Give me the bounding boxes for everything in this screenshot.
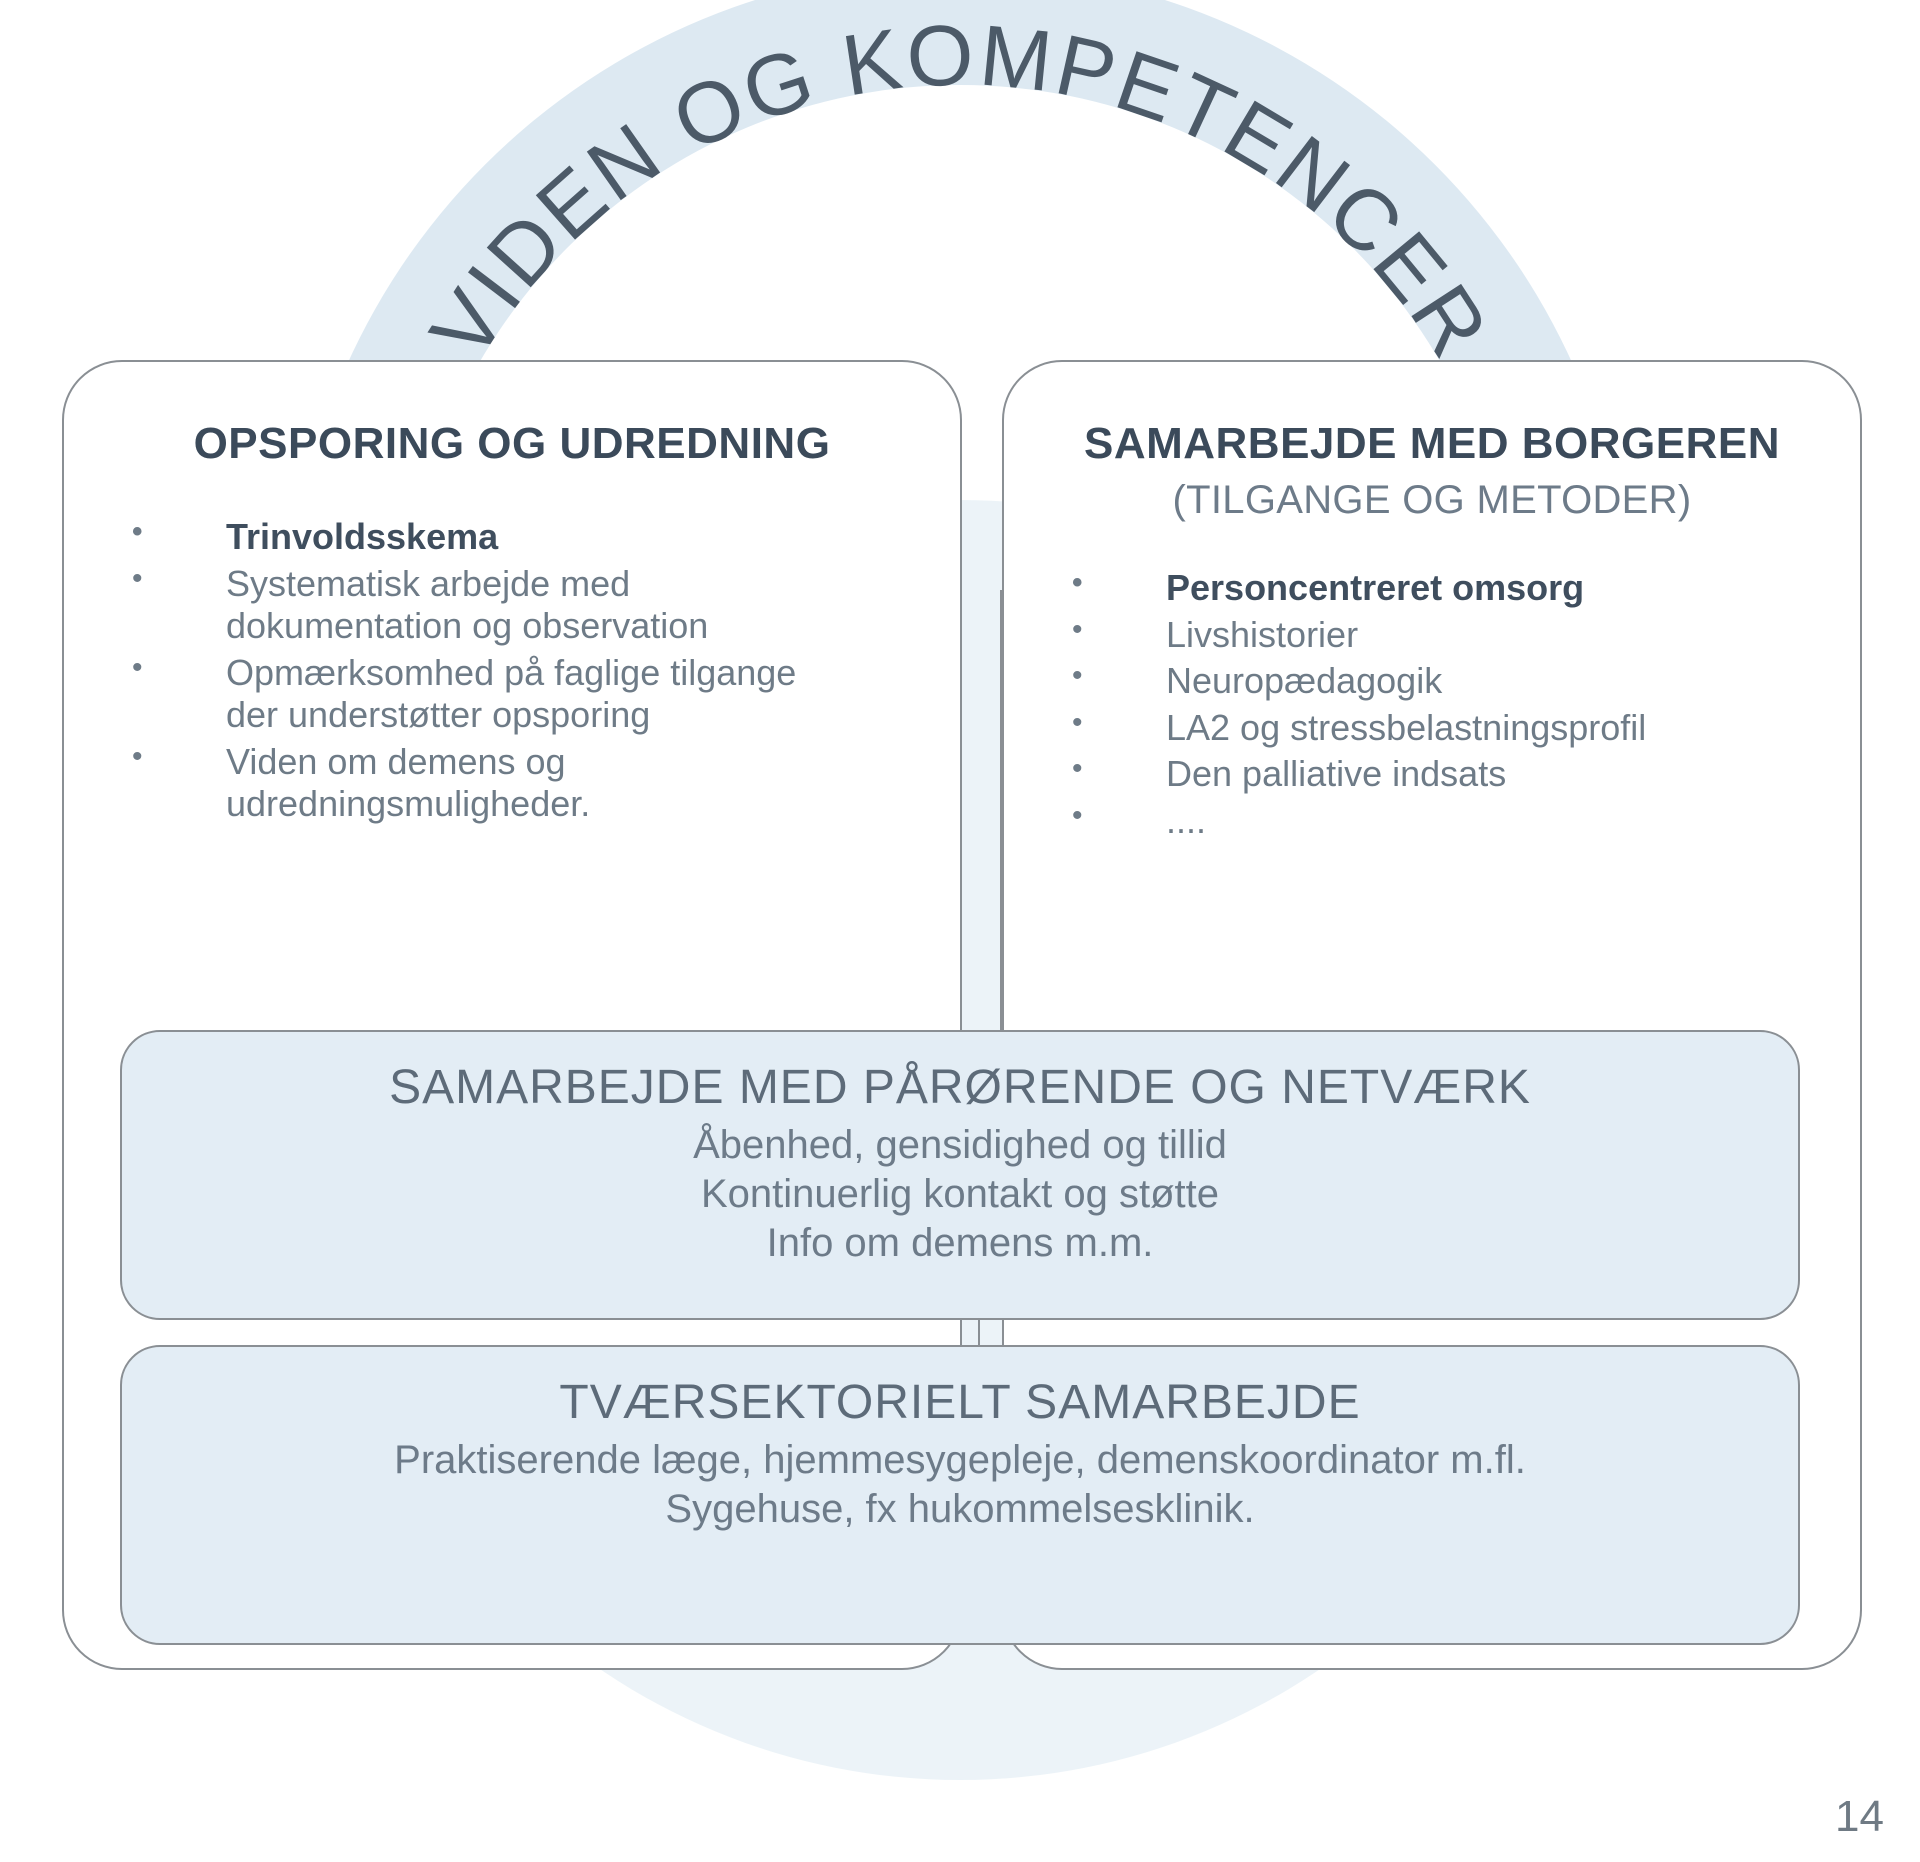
list-item: Systematisk arbejde med dokumentation og… xyxy=(126,563,826,648)
left-card-bullet-list: Trinvoldsskema Systematisk arbejde med d… xyxy=(126,516,826,825)
right-card-title: SAMARBEJDE MED BORGEREN xyxy=(1004,416,1860,472)
middle-banner-title: SAMARBEJDE MED PÅRØRENDE OG NETVÆRK xyxy=(122,1060,1798,1115)
list-item: Trinvoldsskema xyxy=(126,516,826,558)
bottom-banner-lines: Praktiserende læge, hjemmesygepleje, dem… xyxy=(122,1436,1798,1534)
list-item: LA2 og stressbelastningsprofil xyxy=(1066,707,1756,749)
list-item: Neuropædagogik xyxy=(1066,660,1756,702)
bottom-banner-line: Praktiserende læge, hjemmesygepleje, dem… xyxy=(122,1436,1798,1485)
left-card-title: OPSPORING OG UDREDNING xyxy=(64,416,960,472)
banner-samarbejde-med-paaroerende[interactable]: SAMARBEJDE MED PÅRØRENDE OG NETVÆRK Åben… xyxy=(120,1030,1800,1320)
list-item: Opmærksomhed på faglige tilgange der und… xyxy=(126,652,826,737)
right-card-subtitle: (TILGANGE OG METODER) xyxy=(1004,478,1860,523)
list-item: Viden om demens og udredningsmuligheder. xyxy=(126,741,826,826)
right-card-bullet-list: Personcentreret omsorg Livshistorier Neu… xyxy=(1066,567,1756,842)
bottom-banner-title: TVÆRSEKTORIELT SAMARBEJDE xyxy=(122,1375,1798,1430)
bottom-banner-line: Sygehuse, fx hukommelsesklinik. xyxy=(122,1485,1798,1534)
middle-banner-line: Kontinuerlig kontakt og støtte xyxy=(122,1170,1798,1219)
list-item: Personcentreret omsorg xyxy=(1066,567,1756,609)
page-number: 14 xyxy=(1835,1792,1884,1842)
middle-banner-line: Åbenhed, gensidighed og tillid xyxy=(122,1121,1798,1170)
list-item: Den palliative indsats xyxy=(1066,753,1756,795)
middle-banner-lines: Åbenhed, gensidighed og tillid Kontinuer… xyxy=(122,1121,1798,1267)
list-item: Livshistorier xyxy=(1066,614,1756,656)
banner-tvaersektorielt-samarbejde[interactable]: TVÆRSEKTORIELT SAMARBEJDE Praktiserende … xyxy=(120,1345,1800,1645)
competency-diagram: OPSPORING OG UDREDNING Trinvoldsskema Sy… xyxy=(0,0,1920,1862)
list-item: .... xyxy=(1066,800,1756,842)
middle-banner-line: Info om demens m.m. xyxy=(122,1219,1798,1268)
